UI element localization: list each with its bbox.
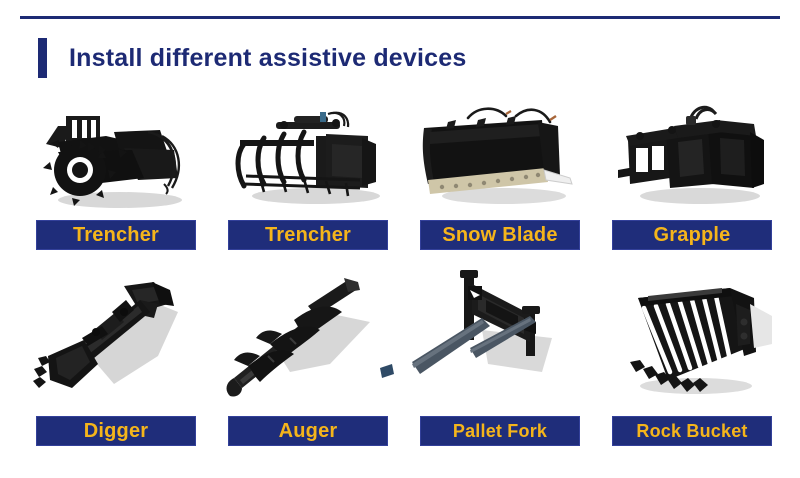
product-card-rock-bucket[interactable]: Rock Bucket (604, 260, 780, 446)
rock-bucket-attachment-image (604, 260, 780, 410)
product-label-text: Auger (279, 421, 338, 441)
product-grid: Trencher (28, 92, 780, 446)
page-heading: Install different assistive devices (38, 36, 466, 80)
product-label-text: Snow Blade (442, 225, 557, 245)
product-label-banner: Snow Blade (420, 220, 580, 250)
product-card-trencher-1[interactable]: Trencher (28, 92, 204, 250)
product-card-grapple[interactable]: Grapple (604, 92, 780, 250)
product-label-banner: Digger (36, 416, 196, 446)
page-title: Install different assistive devices (69, 44, 466, 73)
grapple-rake-attachment-image (220, 92, 396, 214)
product-showcase-banner: Install different assistive devices (0, 0, 800, 478)
product-card-snow-blade[interactable]: Snow Blade (412, 92, 588, 250)
product-label-banner: Auger (228, 416, 388, 446)
grapple-attachment-image (604, 92, 780, 214)
product-label-text: Grapple (654, 225, 731, 245)
product-label-banner: Trencher (228, 220, 388, 250)
product-label-banner: Pallet Fork (420, 416, 580, 446)
auger-attachment-image (220, 260, 396, 410)
pallet-fork-attachment-image (412, 260, 588, 410)
product-card-pallet-fork[interactable]: Pallet Fork (412, 260, 588, 446)
product-label-text: Rock Bucket (636, 422, 747, 440)
snow-blade-attachment-image (412, 92, 588, 214)
top-divider-rule (20, 16, 780, 19)
backhoe-digger-attachment-image (28, 260, 204, 410)
product-card-auger[interactable]: Auger (220, 260, 396, 446)
product-label-text: Digger (84, 421, 149, 441)
product-label-banner: Grapple (612, 220, 772, 250)
product-label-banner: Rock Bucket (612, 416, 772, 446)
trencher-attachment-image (28, 92, 204, 214)
heading-accent-bar (38, 38, 47, 78)
product-label-banner: Trencher (36, 220, 196, 250)
product-label-text: Trencher (73, 225, 159, 245)
product-label-text: Pallet Fork (453, 422, 547, 440)
product-card-digger[interactable]: Digger (28, 260, 204, 446)
product-card-trencher-2[interactable]: Trencher (220, 92, 396, 250)
product-label-text: Trencher (265, 225, 351, 245)
